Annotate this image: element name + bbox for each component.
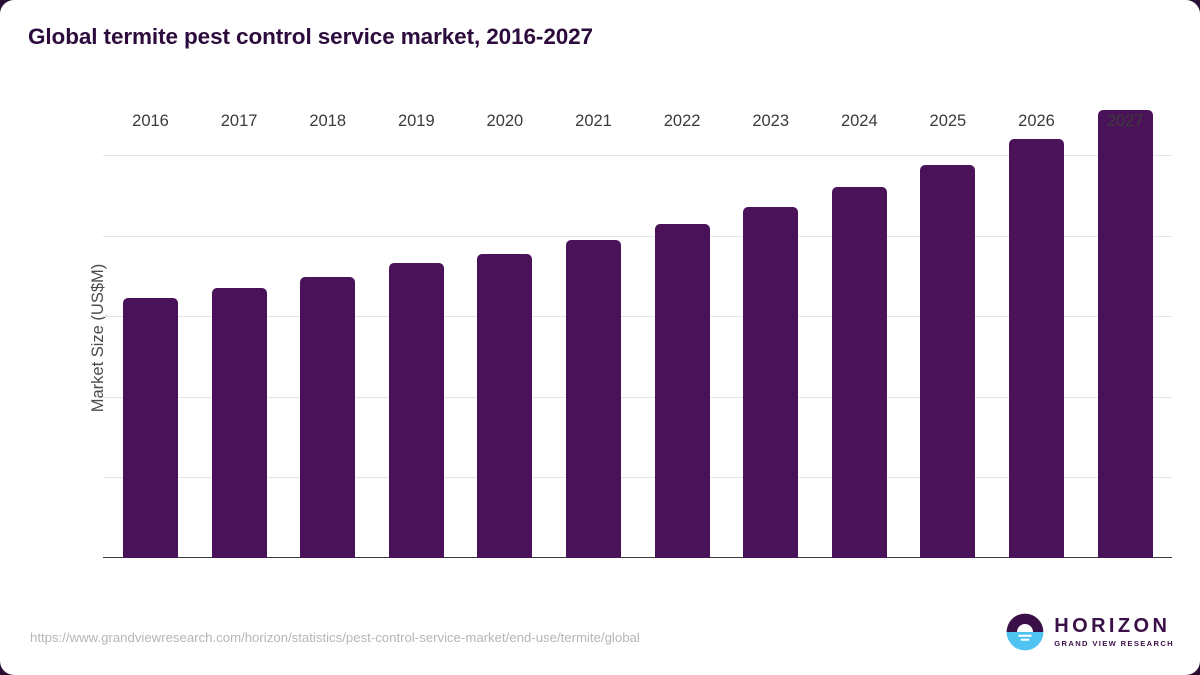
- bar-group[interactable]: 2024: [832, 96, 887, 558]
- bar[interactable]: [123, 298, 178, 558]
- bar[interactable]: [655, 224, 710, 558]
- x-axis-tick-label: 2026: [1018, 112, 1055, 131]
- bar-group[interactable]: 2020: [477, 96, 532, 558]
- x-axis-tick-label: 2025: [930, 112, 967, 131]
- logo-text: HORIZON GRAND VIEW RESEARCH: [1054, 616, 1174, 648]
- bar-group[interactable]: 2025: [920, 96, 975, 558]
- bar-group[interactable]: 2027: [1098, 96, 1153, 558]
- chart-page: Global termite pest control service mark…: [0, 0, 1200, 675]
- bar[interactable]: [300, 277, 355, 558]
- bar-group[interactable]: 2026: [1009, 96, 1064, 558]
- bar-series: 2016201720182019202020212022202320242025…: [103, 96, 1172, 558]
- bar[interactable]: [566, 240, 621, 558]
- bar[interactable]: [389, 263, 444, 558]
- horizon-circle-icon: [1005, 612, 1045, 652]
- page-title: Global termite pest control service mark…: [28, 24, 593, 50]
- bar-group[interactable]: 2018: [300, 96, 355, 558]
- horizon-logo[interactable]: HORIZON GRAND VIEW RESEARCH: [1005, 612, 1174, 652]
- bar[interactable]: [212, 288, 267, 558]
- bar-group[interactable]: 2022: [655, 96, 710, 558]
- bar-group[interactable]: 2023: [743, 96, 798, 558]
- bar-group[interactable]: 2016: [123, 96, 178, 558]
- plot-area: 01k2k3k4k5k 2016201720182019202020212022…: [103, 96, 1172, 558]
- bar[interactable]: [743, 207, 798, 558]
- bar-group[interactable]: 2021: [566, 96, 621, 558]
- x-axis-tick-label: 2021: [575, 112, 612, 131]
- x-axis-tick-label: 2022: [664, 112, 701, 131]
- source-url[interactable]: https://www.grandviewresearch.com/horizo…: [30, 630, 640, 645]
- bar[interactable]: [477, 254, 532, 558]
- x-axis-tick-label: 2023: [752, 112, 789, 131]
- x-axis-tick-label: 2019: [398, 112, 435, 131]
- bar[interactable]: [832, 187, 887, 558]
- bar[interactable]: [1009, 139, 1064, 558]
- x-axis-tick-label: 2016: [132, 112, 169, 131]
- logo-wordmark: HORIZON: [1054, 616, 1174, 636]
- x-axis-tick-label: 2018: [309, 112, 346, 131]
- bar[interactable]: [920, 165, 975, 558]
- bar-group[interactable]: 2019: [389, 96, 444, 558]
- x-axis-tick-label: 2017: [221, 112, 258, 131]
- bar-group[interactable]: 2017: [212, 96, 267, 558]
- x-axis-tick-label: 2024: [841, 112, 878, 131]
- logo-tagline: GRAND VIEW RESEARCH: [1054, 640, 1174, 648]
- bar[interactable]: [1098, 110, 1153, 558]
- x-axis-tick-label: 2020: [487, 112, 524, 131]
- x-axis-tick-label: 2027: [1107, 112, 1144, 131]
